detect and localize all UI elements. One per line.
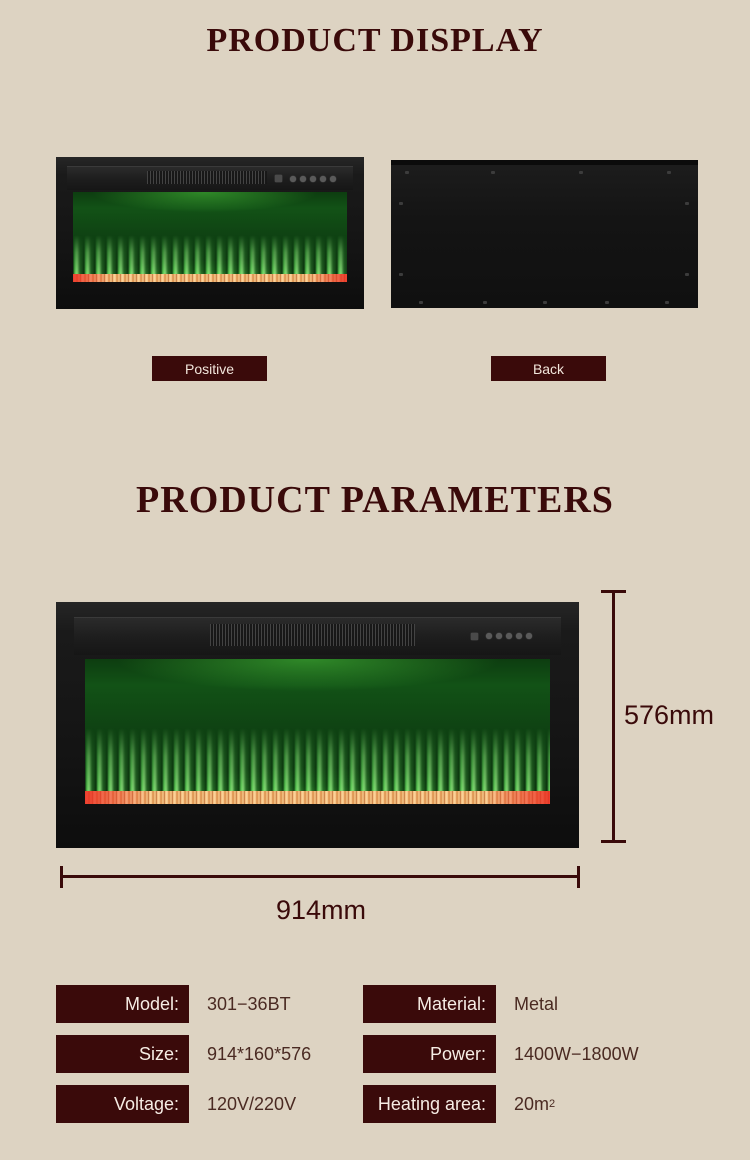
spec-value-heating-area-unit: 2 <box>549 1098 555 1110</box>
flame-glow <box>73 192 347 219</box>
panel-screw <box>399 202 403 205</box>
panel-screw <box>685 273 689 276</box>
mode-button-icon <box>496 633 502 639</box>
product-display-heading: PRODUCT DISPLAY <box>0 22 750 60</box>
display-window-icon <box>471 633 478 640</box>
product-image-front <box>56 157 364 309</box>
panel-screw <box>399 273 403 276</box>
panel-screw <box>665 301 669 304</box>
width-dimension-line <box>62 875 579 878</box>
panel-screw <box>491 171 495 174</box>
fireplace-control-bar <box>67 166 353 190</box>
panel-screw <box>483 301 487 304</box>
mode-button-icon <box>300 176 306 182</box>
product-parameters-heading: PRODUCT PARAMETERS <box>0 478 750 522</box>
spec-value-material: Metal <box>514 985 558 1023</box>
spec-label-power: Power: <box>363 1035 496 1073</box>
control-buttons <box>275 175 336 182</box>
flame-window <box>85 659 551 804</box>
flame-effect <box>73 235 347 276</box>
spec-label-voltage: Voltage: <box>56 1085 189 1123</box>
spec-value-heating-area: 20m2 <box>514 1085 555 1123</box>
panel-screw <box>405 171 409 174</box>
spec-value-size: 914*160*576 <box>207 1035 311 1073</box>
height-dimension-cap-bottom <box>601 840 626 843</box>
control-buttons <box>471 633 532 640</box>
height-dimension-label: 576mm <box>624 700 714 731</box>
spec-label-heating-area: Heating area: <box>363 1085 496 1123</box>
flame-glow <box>85 659 551 703</box>
flame-button-icon <box>506 633 512 639</box>
width-dimension-cap-right <box>577 866 580 888</box>
product-image-dimensioned <box>56 602 579 848</box>
panel-screw <box>685 202 689 205</box>
fireplace-control-bar <box>74 617 560 655</box>
spec-value-voltage: 120V/220V <box>207 1085 296 1123</box>
timer-button-icon <box>516 633 522 639</box>
vent-grille-icon <box>210 624 414 645</box>
spec-value-power: 1400W−1800W <box>514 1035 639 1073</box>
vent-grille-icon <box>147 171 267 184</box>
panel-screw <box>543 301 547 304</box>
ember-bed <box>85 791 551 804</box>
panel-screw <box>667 171 671 174</box>
spec-value-heating-area-number: 20m <box>514 1094 549 1115</box>
flame-effect <box>85 728 551 795</box>
caption-back: Back <box>491 356 606 381</box>
power-button-icon <box>290 176 296 182</box>
ember-bed <box>73 274 347 282</box>
display-window-icon <box>275 175 282 182</box>
product-image-back <box>391 160 698 308</box>
spec-label-model: Model: <box>56 985 189 1023</box>
heat-button-icon <box>330 176 336 182</box>
height-dimension-line <box>612 592 615 842</box>
spec-value-model: 301−36BT <box>207 985 291 1023</box>
panel-screw <box>419 301 423 304</box>
flame-window <box>73 192 347 282</box>
panel-top-lip <box>391 160 698 165</box>
power-button-icon <box>486 633 492 639</box>
panel-screw <box>605 301 609 304</box>
flame-button-icon <box>310 176 316 182</box>
panel-screw <box>579 171 583 174</box>
timer-button-icon <box>320 176 326 182</box>
spec-label-size: Size: <box>56 1035 189 1073</box>
caption-positive: Positive <box>152 356 267 381</box>
spec-label-material: Material: <box>363 985 496 1023</box>
heat-button-icon <box>526 633 532 639</box>
width-dimension-label: 914mm <box>276 895 366 926</box>
